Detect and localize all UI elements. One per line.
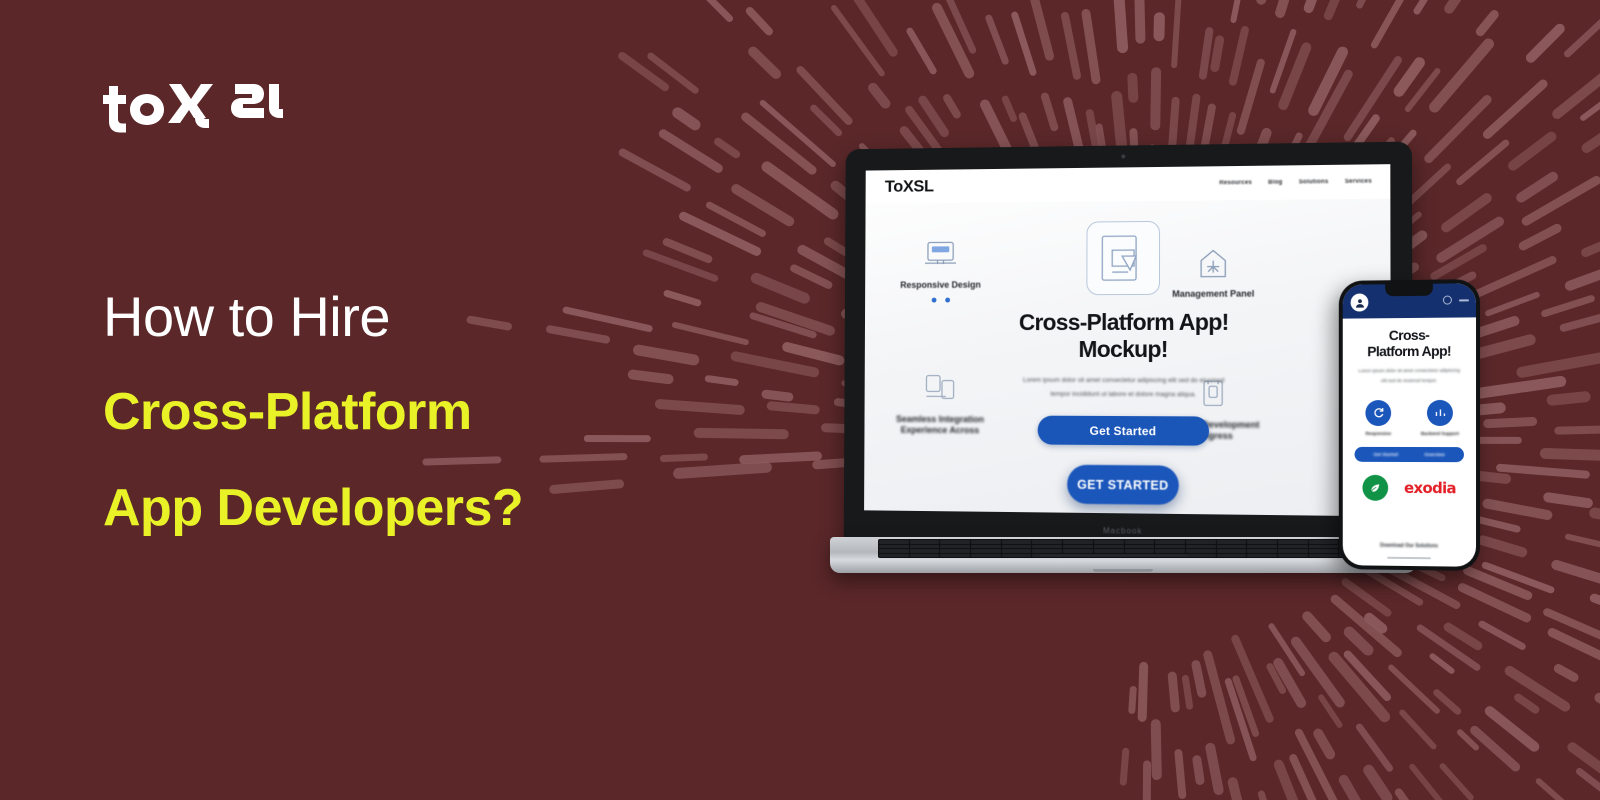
keyboard-key	[1278, 554, 1308, 558]
burst-ray	[1060, 11, 1082, 81]
logo-text: toXSL	[103, 134, 104, 135]
feature-management-panel: Management Panel	[1155, 246, 1272, 300]
burst-ray	[1563, 7, 1600, 58]
keyboard-key	[1247, 545, 1277, 549]
keyboard-key	[1247, 549, 1277, 553]
phone-tile-label: Backend Support	[1420, 431, 1460, 438]
burst-ray	[795, 64, 855, 127]
feature-label: Management Panel	[1155, 288, 1272, 300]
keyboard-key	[1032, 540, 1062, 544]
bell-icon[interactable]	[1443, 296, 1452, 305]
burst-ray	[1081, 8, 1101, 84]
toxsl-logo: toXSL	[103, 72, 283, 134]
burst-ray	[1355, 722, 1395, 773]
keyboard-key	[940, 554, 970, 558]
keyboard-key	[971, 549, 1001, 553]
burst-ray	[1513, 692, 1541, 715]
burst-ray	[1021, 0, 1055, 62]
hero-block: Cross-Platform App! Mockup! Lorem ipsum …	[865, 308, 1391, 402]
burst-ray	[1503, 664, 1572, 713]
burst-ray	[830, 4, 886, 78]
keyboard-key	[910, 554, 940, 558]
burst-ray	[1230, 0, 1255, 23]
phone-paragraph: Lorem ipsum dolor sit amet consectetur a…	[1358, 366, 1461, 386]
hero-title-line-2: Mockup!	[942, 336, 1308, 363]
burst-ray	[1540, 447, 1600, 460]
keyboard-key	[1094, 549, 1124, 553]
burst-ray	[905, 25, 938, 75]
burst-ray	[1516, 350, 1600, 378]
keyboard-key	[879, 540, 909, 544]
burst-ray	[1040, 92, 1059, 132]
nav-item-resources[interactable]: Resources	[1219, 180, 1252, 186]
chart-icon	[1427, 400, 1453, 426]
burst-ray	[1412, 0, 1444, 15]
phone-home-indicator	[1387, 556, 1431, 559]
keyboard-key	[1217, 540, 1247, 544]
monitor-icon	[919, 238, 962, 272]
burst-ray	[1255, 0, 1281, 6]
keyboard-key	[1155, 540, 1185, 544]
keyboard-key	[910, 549, 940, 553]
keyboard-key	[1063, 545, 1093, 549]
keyboard-key	[910, 545, 940, 549]
burst-ray	[1564, 533, 1600, 560]
burst-ray	[1438, 762, 1475, 800]
laptop-mockup: ToXSL Resources Blog Solutions Services	[830, 145, 1410, 565]
keyboard-key	[910, 540, 940, 544]
keyboard-key	[1186, 545, 1216, 549]
burst-ray	[1442, 0, 1480, 16]
keyboard-key	[1278, 545, 1308, 549]
burst-ray	[1230, 634, 1274, 724]
keyboard-key	[1247, 540, 1277, 544]
keyboard-key	[1125, 549, 1155, 553]
burst-ray	[1224, 677, 1257, 762]
burst-ray	[1202, 650, 1236, 746]
phone-title-line-1: Cross-	[1352, 328, 1467, 345]
burst-ray	[1322, 0, 1364, 22]
nav-item-solutions[interactable]: Solutions	[1299, 179, 1329, 185]
nav-item-services[interactable]: Services	[1345, 179, 1372, 185]
feature-label: Responsive Design	[884, 280, 997, 292]
burst-ray	[1306, 44, 1349, 117]
carousel-dots[interactable]	[884, 298, 997, 303]
burst-ray	[1543, 492, 1594, 509]
burst-ray	[1119, 748, 1129, 787]
burst-ray	[1391, 55, 1426, 98]
burst-ray	[1228, 25, 1249, 86]
keyboard-key	[1094, 545, 1124, 549]
burst-ray	[1277, 41, 1313, 112]
feature-label: Seamless Integration Experience Across	[884, 414, 997, 437]
phone-mockup: Cross- Platform App! Lorem ipsum dolor s…	[1339, 279, 1480, 571]
exodia-logo: exodia	[1404, 478, 1456, 496]
phone-screen: Cross- Platform App! Lorem ipsum dolor s…	[1343, 283, 1476, 567]
keyboard-key	[1125, 540, 1155, 544]
burst-ray	[1579, 74, 1600, 122]
laptop-keyboard	[878, 539, 1370, 558]
refresh-circle-icon	[1365, 400, 1391, 426]
keyboard-key	[879, 545, 909, 549]
keyboard-key	[1155, 549, 1185, 553]
phone-button-row[interactable]: Get Started Overview	[1355, 446, 1464, 461]
burst-ray	[1540, 295, 1595, 319]
burst-ray	[1593, 691, 1600, 738]
burst-ray	[1150, 67, 1161, 131]
burst-ray	[1198, 26, 1214, 80]
burst-ray	[1534, 777, 1594, 800]
burst-ray	[1267, 622, 1306, 677]
burst-ray	[1127, 73, 1138, 103]
burst-ray	[1142, 760, 1151, 800]
keyboard-key	[879, 554, 909, 558]
burst-ray	[1272, 656, 1308, 709]
burst-ray	[1210, 36, 1225, 74]
keyboard-key	[1309, 549, 1339, 553]
keyboard-key	[1125, 545, 1155, 549]
burst-ray	[1269, 28, 1297, 94]
keyboard-key	[1002, 549, 1032, 553]
burst-ray	[1432, 688, 1463, 717]
keyboard-spacebar	[1040, 554, 1188, 557]
laptop-brand-label: Macbook	[1103, 526, 1142, 536]
burst-ray	[1517, 222, 1563, 251]
phone-tile-responsive[interactable]: Responsive	[1359, 400, 1399, 438]
keyboard-key	[971, 540, 1001, 544]
burst-ray	[1182, 674, 1194, 710]
burst-ray	[1546, 626, 1600, 671]
hero-paragraph: Lorem ipsum dolor sit amet consectetur a…	[1017, 374, 1231, 402]
burst-ray	[1456, 728, 1480, 752]
device-mockup-group: ToXSL Resources Blog Solutions Services	[760, 130, 1500, 630]
keyboard-key	[1063, 540, 1093, 544]
burst-ray	[1174, 749, 1186, 799]
left-content-column: toXSL How to Hire Cross-Platform App Dev…	[103, 0, 723, 800]
burst-ray	[1483, 704, 1541, 753]
menu-icon[interactable]	[1459, 299, 1469, 301]
keyboard-row	[879, 540, 1369, 544]
laptop-screen: ToXSL Resources Blog Solutions Services	[864, 164, 1391, 516]
keyboard-key	[1032, 549, 1062, 553]
keyboard-key	[940, 549, 970, 553]
burst-ray	[1563, 256, 1600, 292]
phone-brand-row: exodia	[1352, 474, 1467, 501]
burst-ray	[1010, 10, 1037, 76]
get-started-cta-button[interactable]: GET STARTED	[1067, 465, 1179, 505]
burst-ray	[941, 92, 962, 120]
burst-ray	[1542, 607, 1600, 648]
burst-ray	[850, 0, 899, 58]
banner-root: toXSL How to Hire Cross-Platform App Dev…	[0, 0, 1600, 800]
burst-ray	[1398, 708, 1438, 750]
nav-item-blog[interactable]: Blog	[1268, 180, 1282, 186]
burst-ray	[1468, 724, 1521, 773]
phone-notch	[1385, 284, 1433, 297]
burst-ray	[1427, 36, 1496, 114]
laptop-camera-icon	[1121, 154, 1125, 158]
headline: How to Hire Cross-Platform App Developer…	[103, 286, 723, 538]
burst-ray	[1231, 675, 1260, 739]
burst-ray	[1514, 170, 1560, 205]
burst-ray	[1265, 662, 1287, 696]
burst-ray	[1294, 727, 1341, 800]
phone-feature-tiles: Responsive Backend Support	[1352, 399, 1467, 437]
burst-ray	[1236, 58, 1266, 136]
burst-ray	[1137, 662, 1148, 722]
burst-ray	[1337, 773, 1365, 800]
burst-ray	[1342, 649, 1393, 703]
keyboard-key	[1278, 540, 1308, 544]
burst-ray	[1327, 649, 1392, 723]
burst-ray	[1128, 685, 1137, 713]
burst-ray	[1588, 593, 1600, 618]
laptop-base	[830, 537, 1416, 573]
burst-ray	[1361, 762, 1394, 800]
burst-ray	[1289, 635, 1347, 710]
laptop-lid: ToXSL Resources Blog Solutions Services	[844, 142, 1413, 550]
phone-tile-backend[interactable]: Backend Support	[1420, 400, 1460, 438]
laptop-trackpad-notch	[1093, 569, 1153, 572]
keyboard-key	[1155, 545, 1185, 549]
burst-ray	[1550, 559, 1600, 591]
burst-ray	[1428, 652, 1455, 675]
keyboard-key	[1309, 540, 1339, 544]
phone-footer-text: Download Our Solutions	[1343, 542, 1476, 549]
burst-ray	[1191, 659, 1207, 698]
burst-ray	[1113, 0, 1129, 53]
burst-ray	[1192, 755, 1205, 786]
burst-ray	[1133, 0, 1145, 44]
site-body: Responsive Design Management	[864, 199, 1391, 517]
phone-body: Cross- Platform App! Lorem ipsum dolor s…	[1343, 317, 1476, 501]
burst-ray	[1288, 753, 1322, 800]
site-nav[interactable]: Resources Blog Solutions Services	[1219, 179, 1372, 187]
burst-ray	[1506, 130, 1558, 173]
burst-ray	[1404, 67, 1442, 113]
burst-ray	[1317, 693, 1343, 729]
keyboard-key	[971, 545, 1001, 549]
burst-ray	[1355, 0, 1373, 9]
burst-ray	[1524, 22, 1567, 65]
burst-ray	[931, 0, 977, 55]
burst-ray	[1580, 92, 1600, 155]
keyboard-key	[1217, 554, 1247, 558]
burst-ray	[1001, 94, 1019, 123]
keyboard-key	[1217, 545, 1247, 549]
keyboard-key	[879, 549, 909, 553]
document-arrow-icon	[1086, 221, 1160, 295]
burst-ray	[1574, 767, 1600, 800]
burst-ray	[1204, 742, 1224, 796]
keyboard-key	[1309, 554, 1339, 558]
burst-ray	[1588, 506, 1600, 532]
keyboard-key	[1217, 549, 1247, 553]
phone-overview-button[interactable]: Overview	[1424, 452, 1444, 457]
burst-ray	[1257, 790, 1278, 800]
burst-ray	[1151, 719, 1162, 780]
burst-ray	[1167, 672, 1180, 714]
burst-ray	[1153, 12, 1164, 41]
burst-ray	[1580, 230, 1600, 258]
burst-ray	[1393, 787, 1443, 800]
headline-line-3: App Developers?	[103, 479, 723, 539]
burst-ray	[930, 1, 976, 80]
burst-ray	[1474, 8, 1501, 38]
keyboard-key	[940, 545, 970, 549]
keyboard-key	[1186, 540, 1216, 544]
keyboard-row	[879, 545, 1369, 549]
burst-ray	[1272, 758, 1315, 800]
feature-responsive-design: Responsive Design	[884, 238, 997, 303]
site-logo: ToXSL	[885, 177, 934, 197]
burst-ray	[1546, 390, 1591, 405]
phone-get-started-button[interactable]: Get Started	[1373, 451, 1398, 456]
burst-ray	[866, 81, 892, 111]
keyboard-key	[1186, 554, 1216, 558]
burst-ray	[984, 13, 1009, 65]
leaf-badge-icon	[1362, 474, 1388, 500]
burst-ray	[1552, 662, 1580, 683]
user-avatar-icon[interactable]	[1351, 293, 1369, 311]
burst-ray	[1408, 762, 1446, 800]
burst-ray	[1520, 175, 1600, 228]
headline-line-1: How to Hire	[103, 286, 723, 349]
phone-tile-label: Responsive	[1359, 431, 1399, 438]
burst-ray	[1387, 663, 1442, 715]
burst-ray	[1550, 64, 1600, 121]
burst-ray	[1311, 727, 1337, 761]
burst-ray	[1559, 304, 1600, 333]
keyboard-key	[1032, 545, 1062, 549]
keyboard-key	[940, 540, 970, 544]
keyboard-key	[1002, 540, 1032, 544]
phone-header-icons[interactable]	[1443, 295, 1469, 304]
phone-title-line-2: Platform App!	[1352, 343, 1467, 359]
keyboard-key	[1309, 545, 1339, 549]
burst-ray	[746, 45, 783, 81]
burst-ray	[1370, 0, 1408, 50]
burst-ray	[1171, 0, 1182, 68]
get-started-button[interactable]: Get Started	[1038, 416, 1209, 446]
keyboard-key	[1247, 554, 1277, 558]
keyboard-key	[1278, 549, 1308, 553]
hero-title-line-1: Cross-Platform App!	[942, 309, 1308, 337]
burst-ray	[1554, 425, 1600, 435]
keyboard-key	[971, 554, 1001, 558]
burst-ray	[1302, 0, 1324, 15]
keyboard-key	[1186, 549, 1216, 553]
burst-ray	[1496, 464, 1590, 479]
house-panel-icon	[1191, 246, 1235, 280]
keyboard-row	[879, 549, 1369, 553]
site-header: ToXSL Resources Blog Solutions Services	[866, 164, 1391, 204]
keyboard-key	[1063, 549, 1093, 553]
keyboard-key	[1002, 545, 1032, 549]
burst-ray	[1565, 740, 1600, 800]
burst-ray	[1226, 776, 1247, 800]
keyboard-key	[1002, 554, 1032, 558]
burst-ray	[744, 5, 775, 37]
keyboard-key	[1094, 540, 1124, 544]
headline-line-2: Cross-Platform	[103, 383, 723, 443]
burst-ray	[1274, 0, 1308, 19]
phone-app-header	[1343, 283, 1476, 318]
